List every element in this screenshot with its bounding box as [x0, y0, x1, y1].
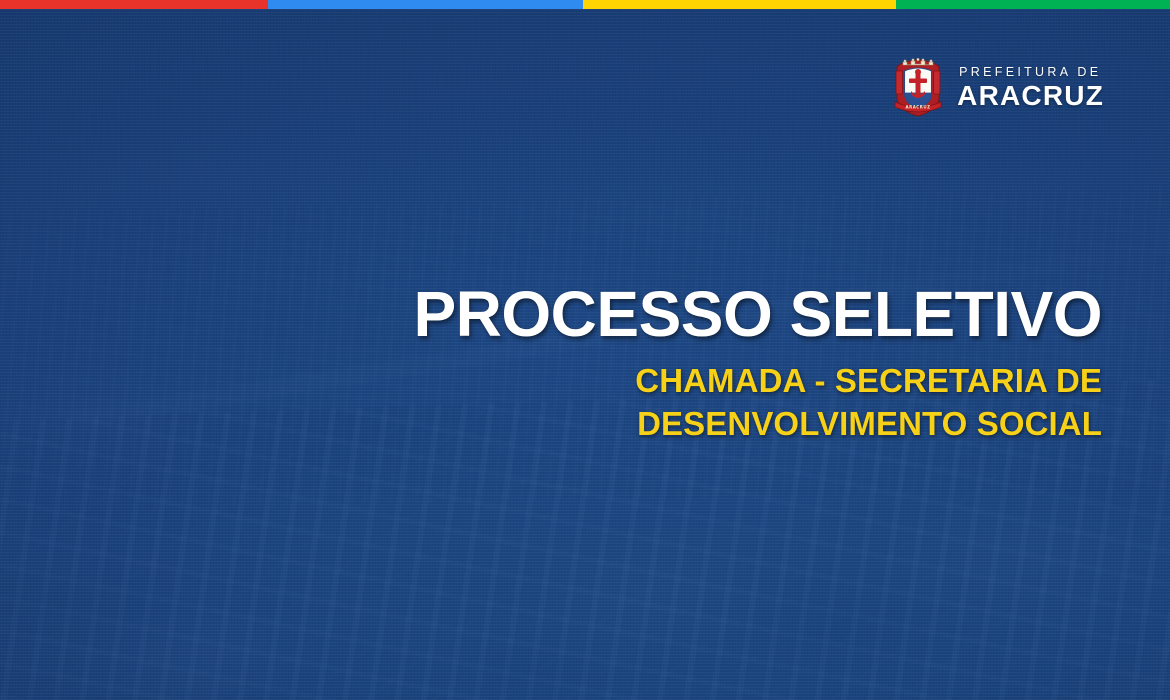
prefeitura-logo[interactable]: ARACRUZ PREFEITURA DE ARACRUZ	[890, 58, 1104, 118]
topbar-segment-yellow	[583, 0, 897, 9]
topbar-segment-red	[0, 0, 268, 9]
logo-prefeitura-label: PREFEITURA DE	[959, 66, 1101, 79]
page-subtitle-line-2: DESENVOLVIMENTO SOCIAL	[362, 402, 1102, 446]
logo-wordmark: PREFEITURA DE ARACRUZ	[957, 66, 1104, 111]
logo-aracruz-label: ARACRUZ	[957, 82, 1104, 110]
topbar-segment-blue	[268, 0, 583, 9]
banner-root: ARACRUZ PREFEITURA DE ARACRUZ PROCESSO S…	[0, 0, 1170, 700]
aracruz-coat-of-arms-icon: ARACRUZ	[890, 58, 946, 118]
page-subtitle: CHAMADA - SECRETARIA DE DESENVOLVIMENTO …	[362, 359, 1102, 446]
page-subtitle-line-1: CHAMADA - SECRETARIA DE	[362, 359, 1102, 403]
svg-text:ARACRUZ: ARACRUZ	[906, 105, 931, 110]
topbar-segment-green	[896, 0, 1170, 9]
headline-block: PROCESSO SELETIVO CHAMADA - SECRETARIA D…	[362, 283, 1102, 446]
page-title: PROCESSO SELETIVO	[362, 283, 1102, 346]
topbar	[0, 0, 1170, 9]
